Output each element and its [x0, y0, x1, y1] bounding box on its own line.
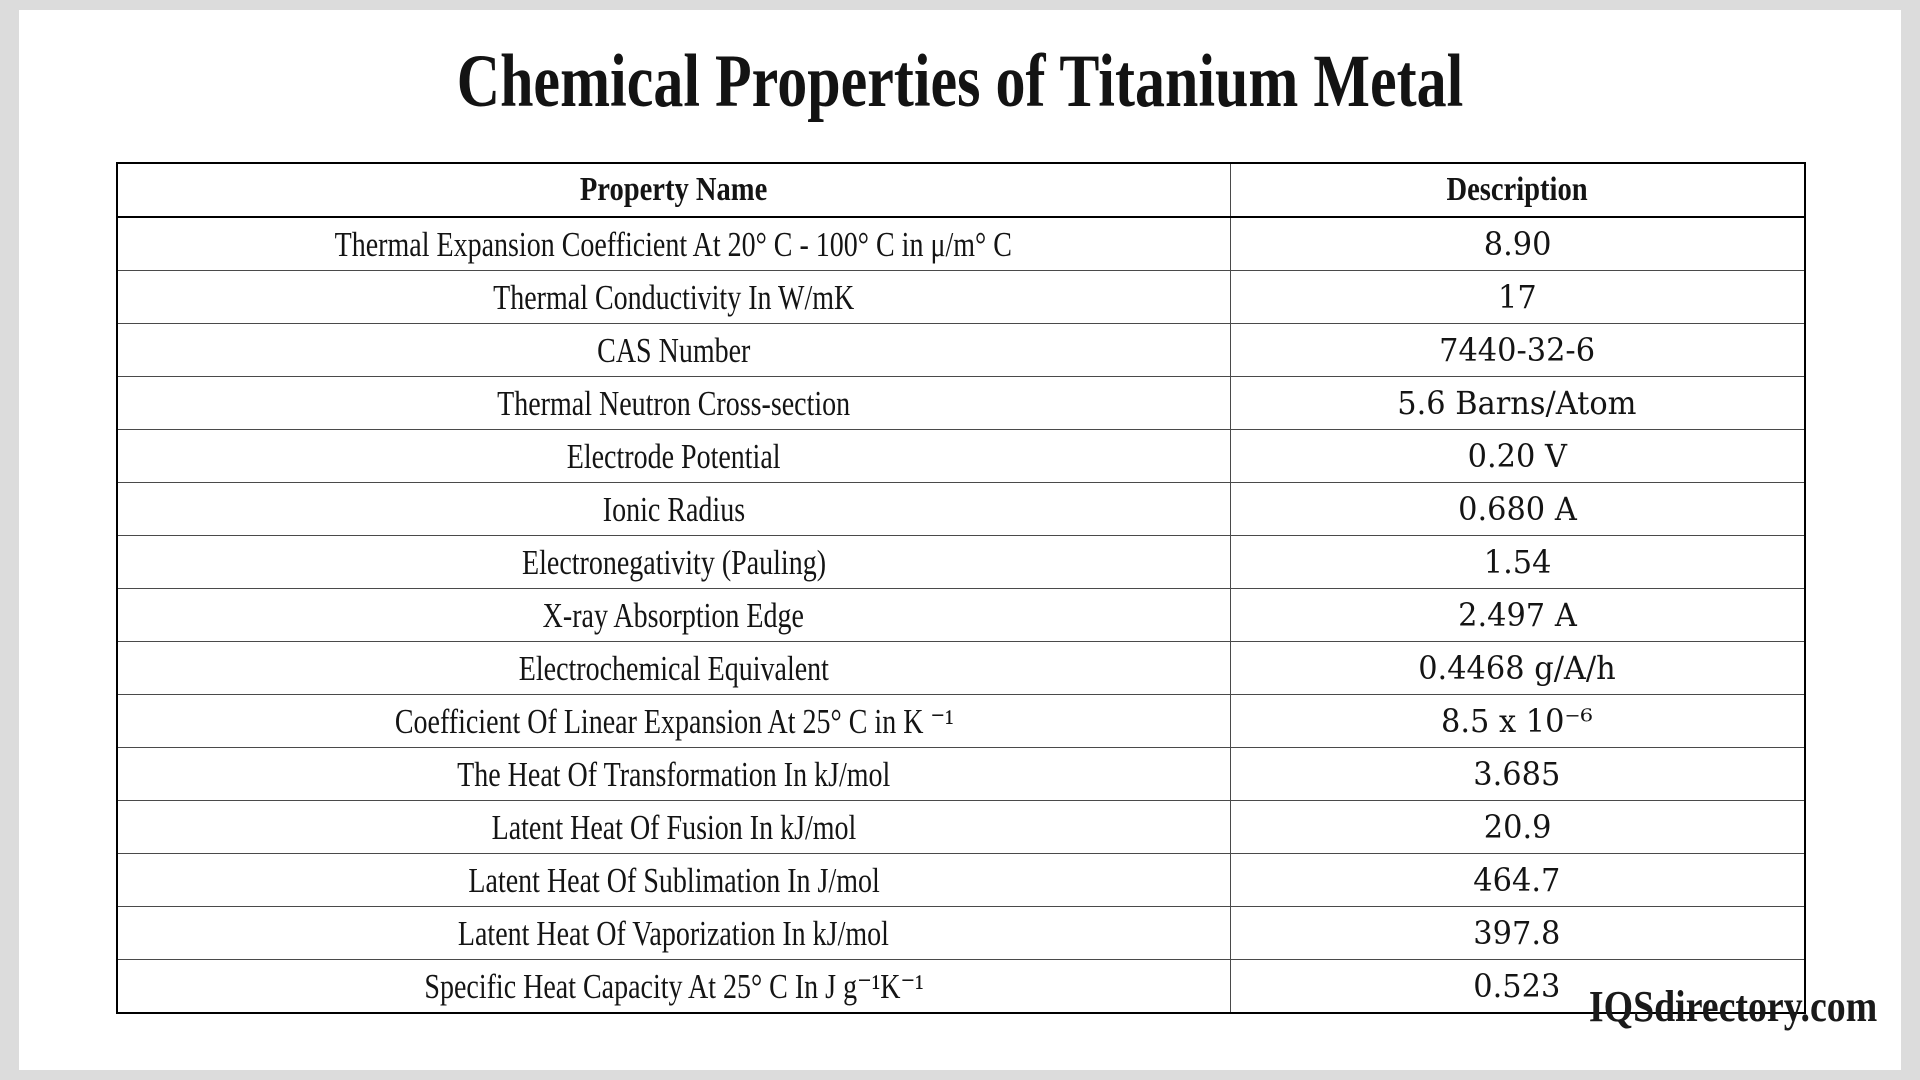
property-name-cell: X-ray Absorption Edge: [117, 589, 1230, 642]
column-header-description-label: Description: [1447, 173, 1588, 207]
description-value: 3.685: [1474, 758, 1561, 790]
property-name-cell: Coefficient Of Linear Expansion At 25° C…: [117, 695, 1230, 748]
description-value: 5.6 Barns/Atom: [1398, 387, 1637, 419]
property-name-cell: Specific Heat Capacity At 25° C In J g⁻¹…: [117, 960, 1230, 1014]
property-name-label: Thermal Neutron Cross-section: [497, 386, 850, 421]
description-value: 0.523: [1474, 970, 1561, 1002]
table-row: Latent Heat Of Fusion In kJ/mol 20.9: [117, 801, 1805, 854]
description-value: 0.4468 g/A/h: [1418, 652, 1616, 684]
property-name-label: Ionic Radius: [603, 492, 745, 527]
table-row: Specific Heat Capacity At 25° C In J g⁻¹…: [117, 960, 1805, 1014]
description-cell: 0.20 V: [1230, 430, 1805, 483]
table-row: CAS Number 7440-32-6: [117, 324, 1805, 377]
property-name-cell: CAS Number: [117, 324, 1230, 377]
description-value: 20.9: [1483, 811, 1551, 843]
description-value: 0.680 A: [1458, 493, 1577, 525]
description-cell: 0.4468 g/A/h: [1230, 642, 1805, 695]
description-cell: 20.9: [1230, 801, 1805, 854]
table-row: Thermal Conductivity In W/mK 17: [117, 271, 1805, 324]
property-name-label: Specific Heat Capacity At 25° C In J g⁻¹…: [424, 969, 923, 1004]
property-name-cell: Latent Heat Of Vaporization In kJ/mol: [117, 907, 1230, 960]
property-name-cell: The Heat Of Transformation In kJ/mol: [117, 748, 1230, 801]
property-name-label: Latent Heat Of Sublimation In J/mol: [468, 863, 879, 898]
property-name-cell: Thermal Expansion Coefficient At 20° C -…: [117, 217, 1230, 271]
property-name-cell: Ionic Radius: [117, 483, 1230, 536]
description-value: 464.7: [1474, 864, 1561, 896]
properties-table-container: Property Name Description Thermal Expans…: [116, 162, 1804, 1014]
table-row: Latent Heat Of Vaporization In kJ/mol 39…: [117, 907, 1805, 960]
column-header-description: Description: [1230, 163, 1805, 217]
column-header-property-name: Property Name: [117, 163, 1230, 217]
property-name-label: Thermal Conductivity In W/mK: [493, 280, 854, 315]
description-value: 17: [1498, 281, 1537, 313]
property-name-cell: Latent Heat Of Sublimation In J/mol: [117, 854, 1230, 907]
description-value: 397.8: [1474, 917, 1561, 949]
page-title: Chemical Properties of Titanium Metal: [207, 44, 1713, 119]
property-name-cell: Electrochemical Equivalent: [117, 642, 1230, 695]
property-name-cell: Thermal Neutron Cross-section: [117, 377, 1230, 430]
description-cell: 1.54: [1230, 536, 1805, 589]
description-cell: 7440-32-6: [1230, 324, 1805, 377]
description-cell: 0.680 A: [1230, 483, 1805, 536]
property-name-label: CAS Number: [597, 333, 750, 368]
property-name-label: Thermal Expansion Coefficient At 20° C -…: [335, 227, 1012, 262]
property-name-label: The Heat Of Transformation In kJ/mol: [457, 757, 890, 792]
description-cell: 17: [1230, 271, 1805, 324]
property-name-label: Coefficient Of Linear Expansion At 25° C…: [394, 704, 953, 739]
description-value: 2.497 A: [1458, 599, 1577, 631]
column-header-property-name-label: Property Name: [580, 173, 767, 207]
table-row: Electrode Potential 0.20 V: [117, 430, 1805, 483]
property-name-cell: Latent Heat Of Fusion In kJ/mol: [117, 801, 1230, 854]
description-value: 8.5 x 10⁻⁶: [1441, 705, 1593, 737]
description-cell: 8.5 x 10⁻⁶: [1230, 695, 1805, 748]
property-name-label: Latent Heat Of Vaporization In kJ/mol: [458, 916, 889, 951]
description-value: 1.54: [1483, 546, 1551, 578]
property-name-label: Electronegativity (Pauling): [522, 545, 826, 580]
property-name-label: Electrochemical Equivalent: [519, 651, 829, 686]
description-cell: 464.7: [1230, 854, 1805, 907]
table-row: Electrochemical Equivalent 0.4468 g/A/h: [117, 642, 1805, 695]
description-cell: 2.497 A: [1230, 589, 1805, 642]
description-cell: 8.90: [1230, 217, 1805, 271]
watermark-branding: IQSdirectory.com: [1589, 985, 1877, 1029]
table-row: Coefficient Of Linear Expansion At 25° C…: [117, 695, 1805, 748]
table-row: Electronegativity (Pauling) 1.54: [117, 536, 1805, 589]
properties-table-body: Thermal Expansion Coefficient At 20° C -…: [117, 217, 1805, 1013]
property-name-label: Electrode Potential: [567, 439, 781, 474]
property-name-label: Latent Heat Of Fusion In kJ/mol: [491, 810, 856, 845]
description-value: 7440-32-6: [1439, 334, 1595, 366]
table-header-row: Property Name Description: [117, 163, 1805, 217]
property-name-label: X-ray Absorption Edge: [543, 598, 804, 633]
property-name-cell: Electronegativity (Pauling): [117, 536, 1230, 589]
table-row: Latent Heat Of Sublimation In J/mol 464.…: [117, 854, 1805, 907]
property-name-cell: Thermal Conductivity In W/mK: [117, 271, 1230, 324]
description-cell: 5.6 Barns/Atom: [1230, 377, 1805, 430]
description-cell: 397.8: [1230, 907, 1805, 960]
property-name-cell: Electrode Potential: [117, 430, 1230, 483]
content-card: Chemical Properties of Titanium Metal Pr…: [19, 10, 1901, 1070]
table-row: X-ray Absorption Edge 2.497 A: [117, 589, 1805, 642]
description-cell: 3.685: [1230, 748, 1805, 801]
table-row: Ionic Radius 0.680 A: [117, 483, 1805, 536]
table-row: Thermal Expansion Coefficient At 20° C -…: [117, 217, 1805, 271]
description-value: 8.90: [1483, 228, 1551, 260]
table-row: Thermal Neutron Cross-section 5.6 Barns/…: [117, 377, 1805, 430]
description-value: 0.20 V: [1468, 440, 1567, 472]
table-row: The Heat Of Transformation In kJ/mol 3.6…: [117, 748, 1805, 801]
properties-table: Property Name Description Thermal Expans…: [116, 162, 1806, 1014]
